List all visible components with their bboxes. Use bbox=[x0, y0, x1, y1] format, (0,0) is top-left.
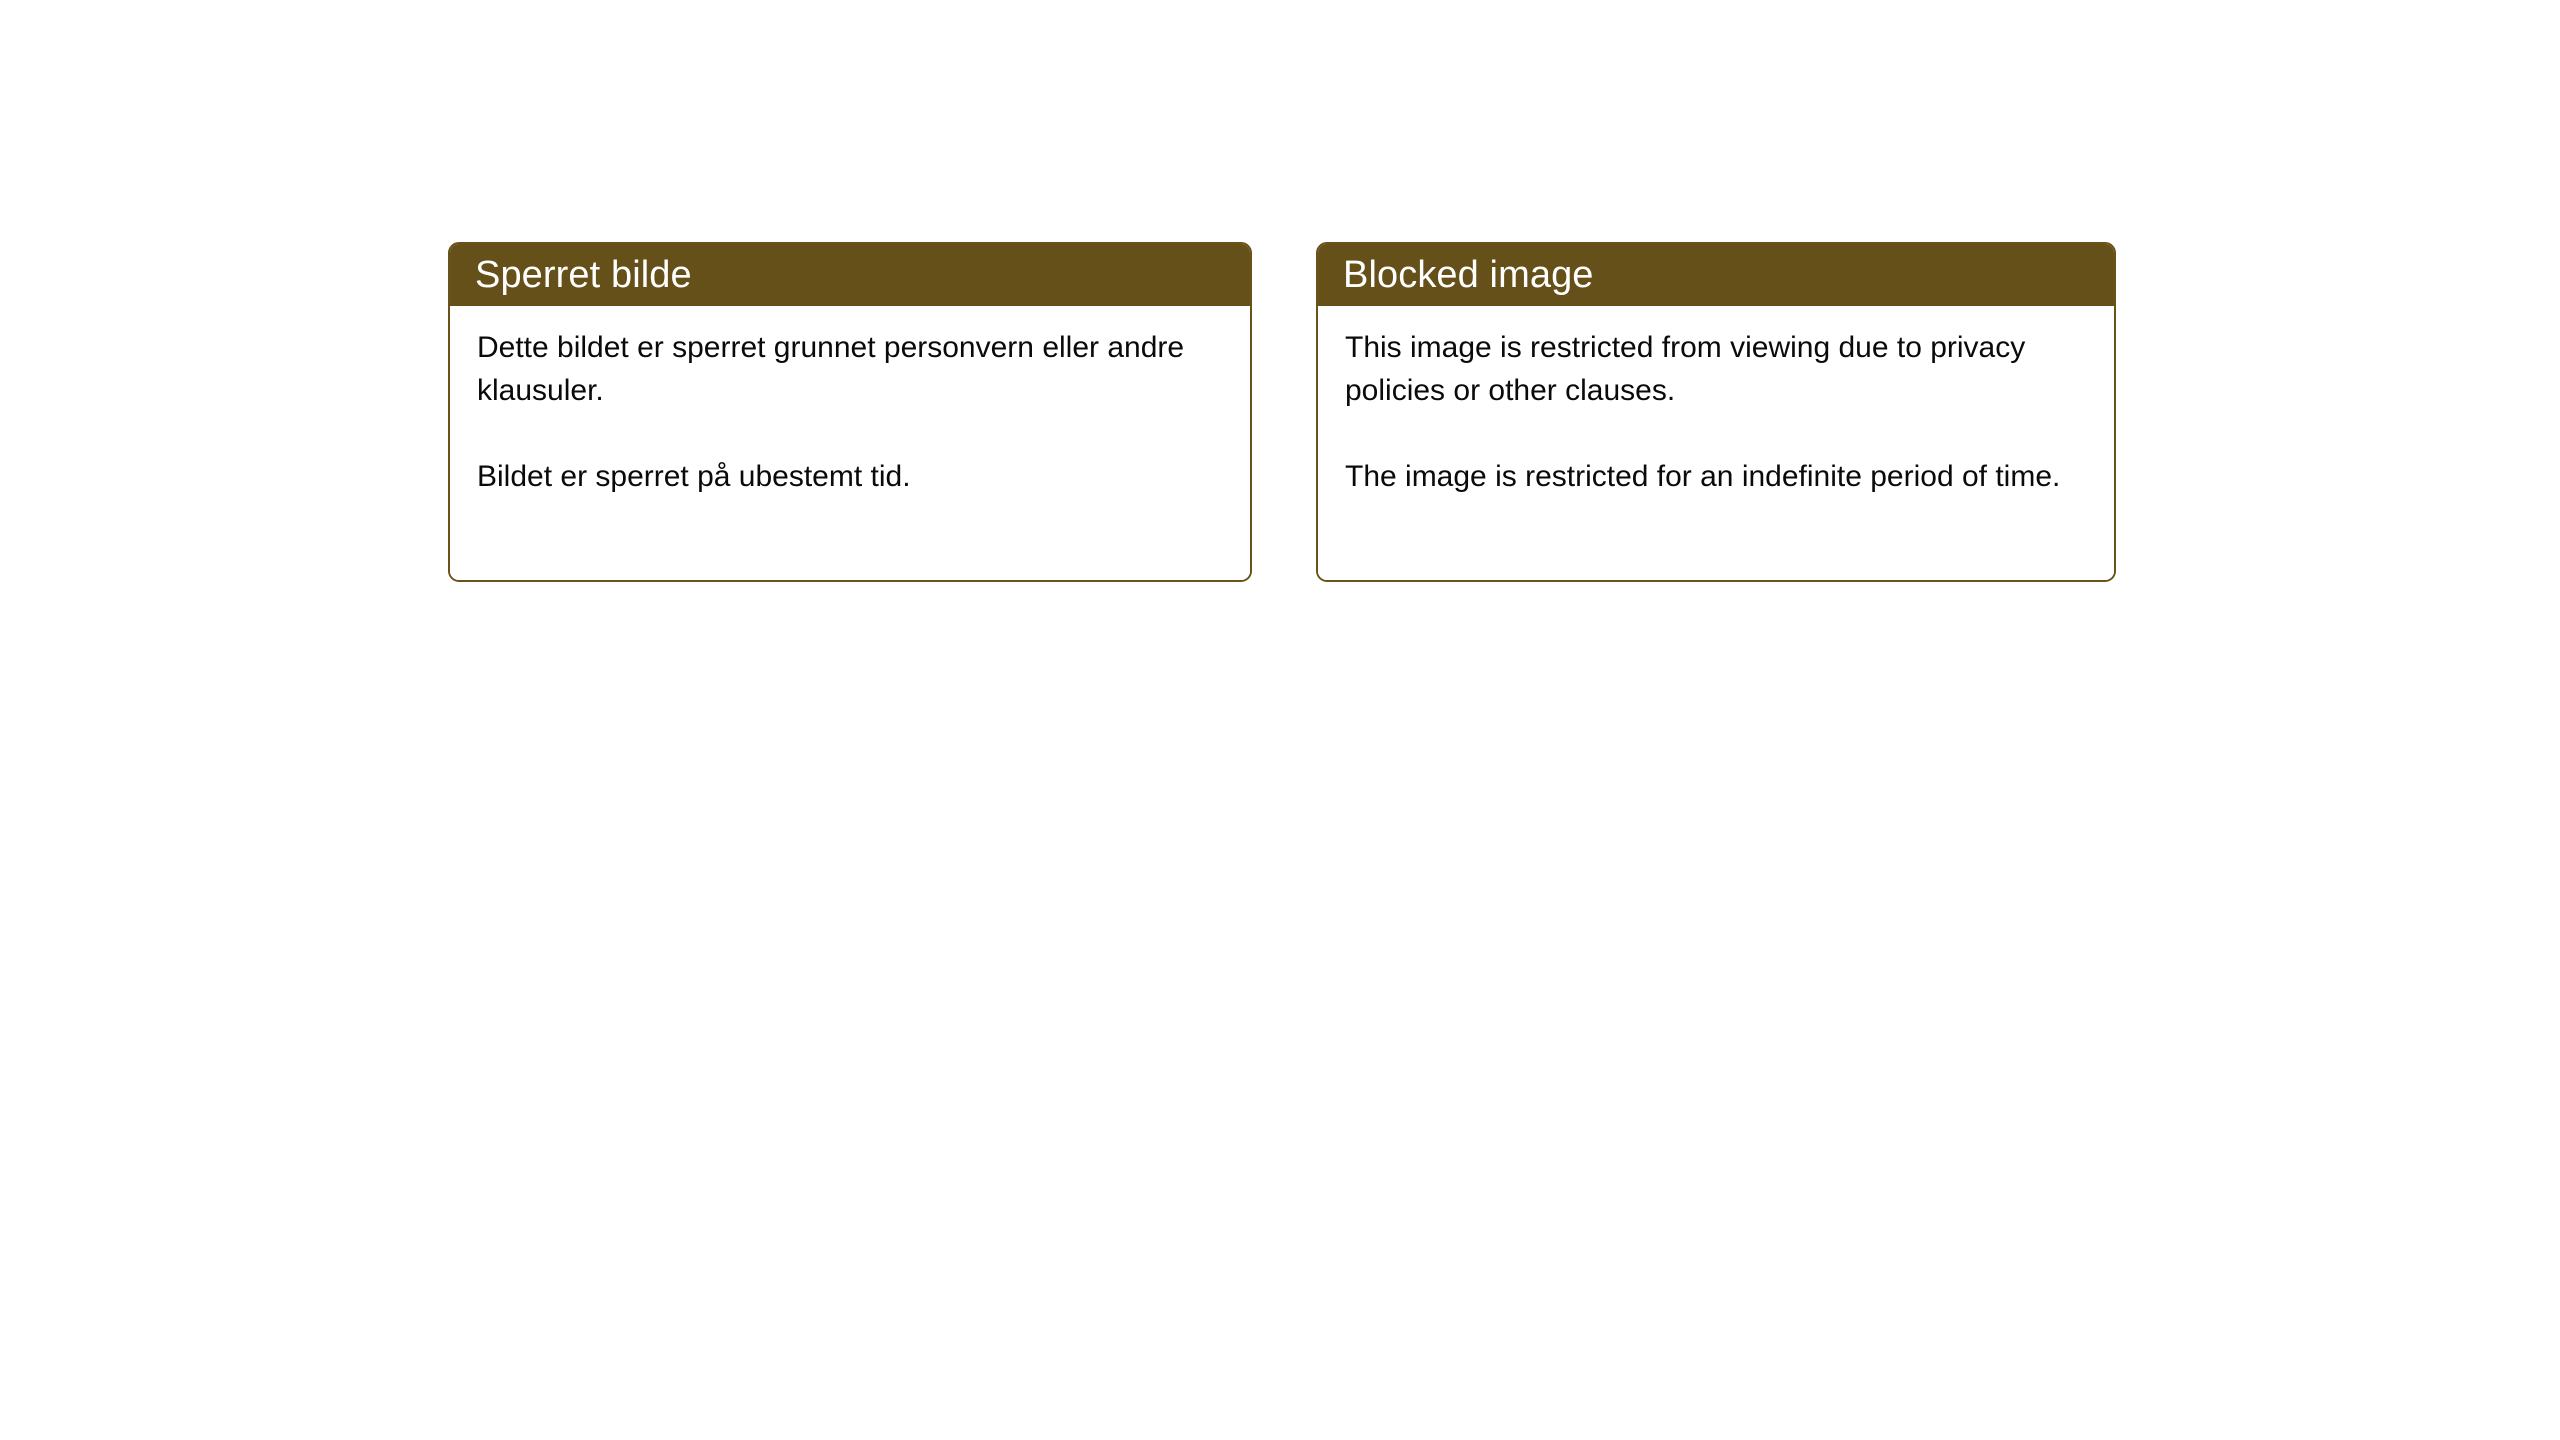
card-paragraph-english-1: This image is restricted from viewing du… bbox=[1345, 326, 2087, 412]
blocked-image-card-norwegian: Sperret bilde Dette bildet er sperret gr… bbox=[448, 242, 1252, 582]
card-title-english: Blocked image bbox=[1343, 256, 1594, 294]
card-title-norwegian: Sperret bilde bbox=[475, 256, 692, 294]
card-paragraph-norwegian-1: Dette bildet er sperret grunnet personve… bbox=[477, 326, 1217, 412]
card-body-norwegian: Dette bildet er sperret grunnet personve… bbox=[450, 306, 1250, 580]
card-header-english: Blocked image bbox=[1318, 244, 2114, 306]
card-body-english: This image is restricted from viewing du… bbox=[1318, 306, 2114, 580]
card-header-norwegian: Sperret bilde bbox=[450, 244, 1250, 306]
card-paragraph-norwegian-2: Bildet er sperret på ubestemt tid. bbox=[477, 455, 1217, 498]
blocked-image-notices: Sperret bilde Dette bildet er sperret gr… bbox=[448, 242, 2116, 582]
card-paragraph-english-2: The image is restricted for an indefinit… bbox=[1345, 455, 2087, 498]
blocked-image-card-english: Blocked image This image is restricted f… bbox=[1316, 242, 2116, 582]
